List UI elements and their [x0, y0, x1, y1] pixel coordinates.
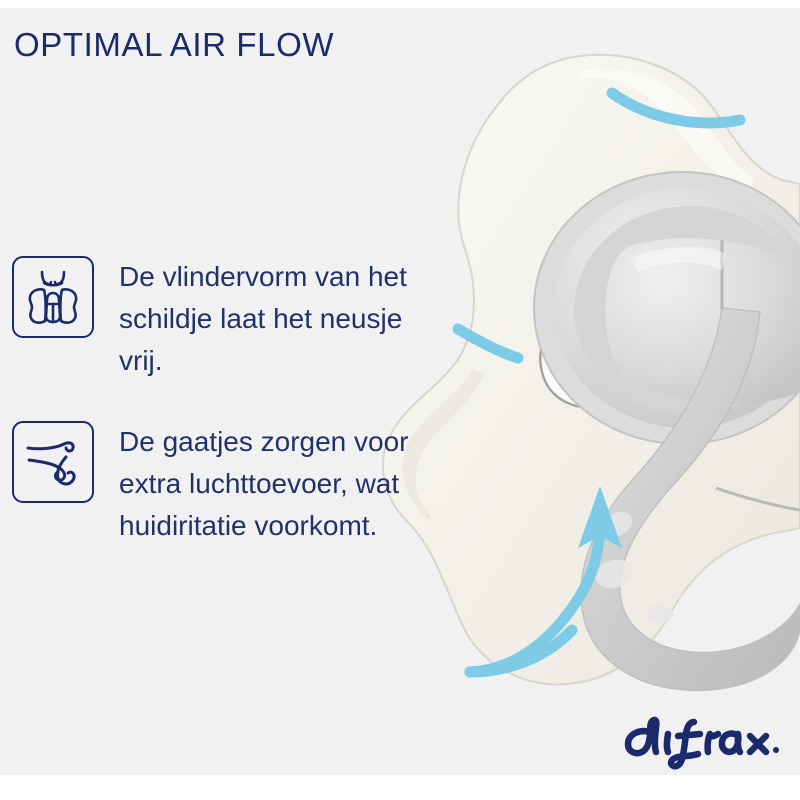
product-infographic: OPTIMAL AIR FLOW	[0, 0, 800, 800]
registered-mark	[773, 747, 779, 753]
feature-row-butterfly: De vlindervorm van het schildje laat het…	[12, 256, 409, 382]
feature-row-airflow: De gaatjes zorgen voor extra luchttoevoe…	[12, 421, 409, 547]
infographic-canvas: OPTIMAL AIR FLOW	[0, 8, 800, 775]
feature-text: De vlindervorm van het schildje laat het…	[119, 256, 409, 382]
page-title: OPTIMAL AIR FLOW	[14, 26, 334, 64]
brand-logo	[620, 714, 785, 772]
pacifier-nose-icon	[12, 256, 94, 338]
wind-airflow-icon	[12, 421, 94, 503]
feature-text: De gaatjes zorgen voor extra luchttoevoe…	[119, 421, 409, 547]
